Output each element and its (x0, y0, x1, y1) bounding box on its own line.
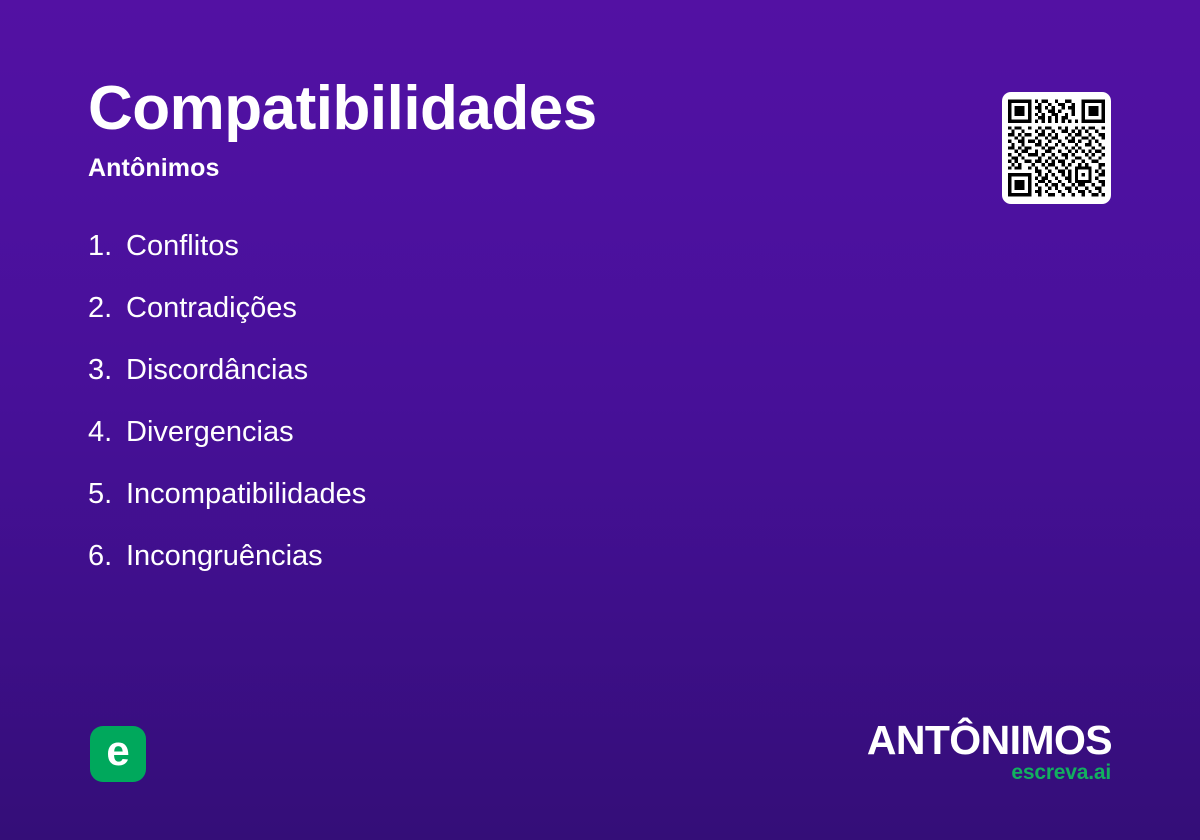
page-subtitle: Antônimos (88, 154, 908, 183)
list-item: 5.Incompatibilidades (88, 480, 888, 509)
list-item-label: Conflitos (126, 230, 239, 262)
escreva-e-logo-icon: e (90, 726, 146, 782)
list-item-index: 2. (88, 294, 126, 323)
footer-brand-lockup: ANTÔNIMOS escreva.ai (860, 722, 1112, 783)
list-item-index: 3. (88, 356, 126, 385)
list-item-index: 1. (88, 232, 126, 261)
list-item-index: 5. (88, 480, 126, 509)
list-item-label: Discordâncias (126, 354, 308, 386)
list-item-label: Incongruências (126, 540, 323, 572)
list-item-index: 4. (88, 418, 126, 447)
list-item-label: Contradições (126, 292, 297, 324)
page-title: Compatibilidades (88, 78, 908, 140)
qr-code-icon (1008, 99, 1105, 197)
list-item-label: Divergencias (126, 416, 294, 448)
slide-canvas: Compatibilidades Antônimos (0, 0, 1200, 840)
list-item: 3.Discordâncias (88, 356, 888, 385)
header-block: Compatibilidades Antônimos (88, 78, 908, 183)
footer-wordmark: ANTÔNIMOS (860, 722, 1112, 760)
footer-tagline: escreva.ai (860, 762, 1112, 783)
list-item: 6.Incongruências (88, 542, 888, 571)
antonym-list: 1.Conflitos 2.Contradições 3.Discordânci… (88, 232, 888, 604)
brand-badge-glyph: e (106, 730, 129, 772)
list-item: 2.Contradições (88, 294, 888, 323)
list-item-label: Incompatibilidades (126, 478, 366, 510)
qr-code-panel[interactable] (1002, 92, 1111, 204)
list-item: 4.Divergencias (88, 418, 888, 447)
list-item-index: 6. (88, 542, 126, 571)
list-item: 1.Conflitos (88, 232, 888, 261)
